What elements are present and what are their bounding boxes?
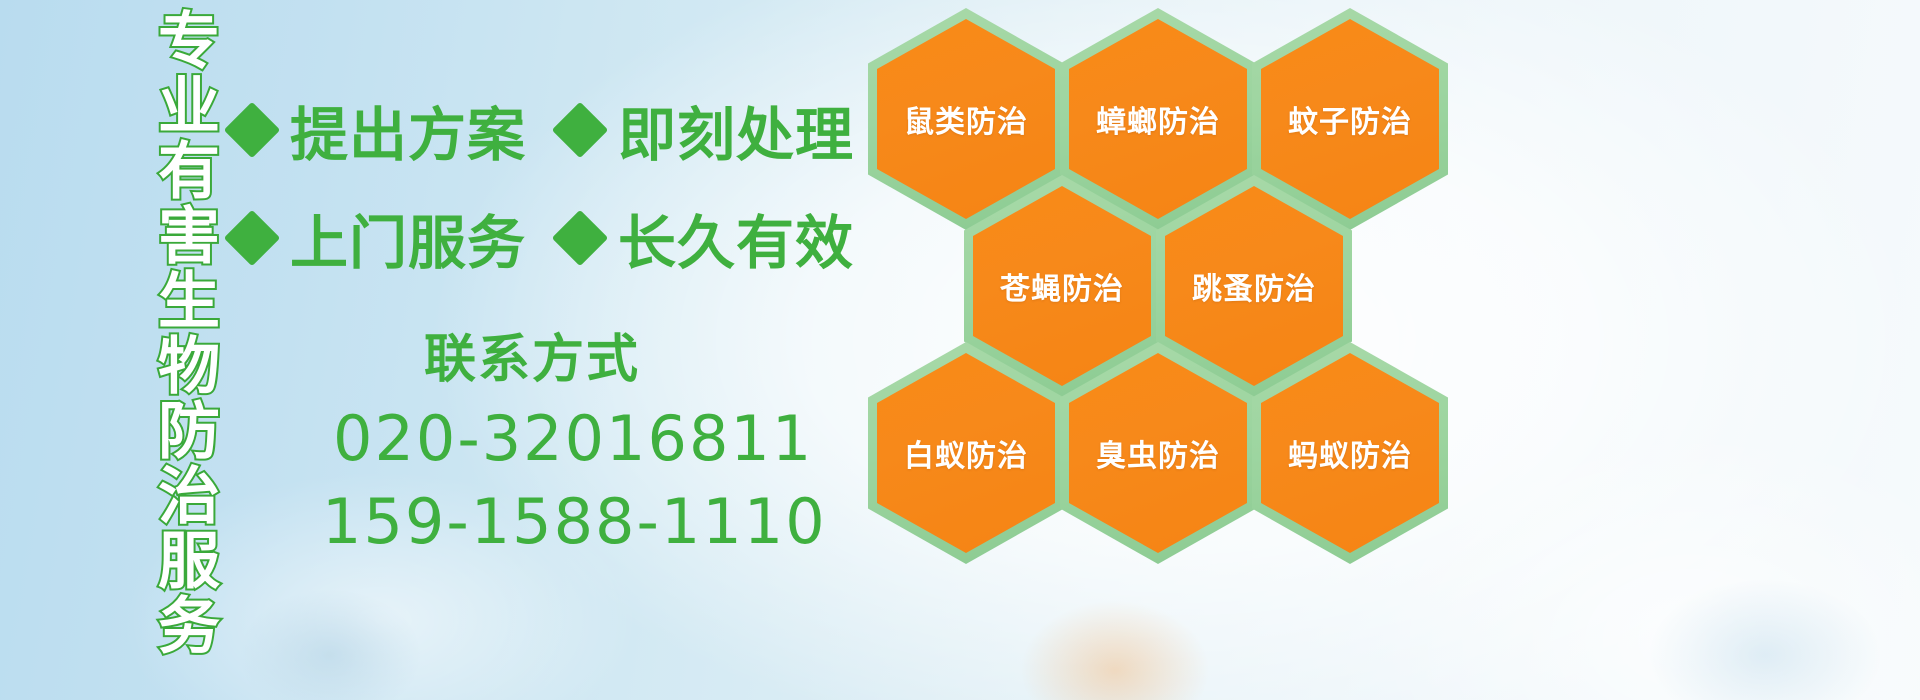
feature-item-onsite: 上门服务 [232, 196, 526, 280]
phone-number-mobile[interactable]: 159-1588-1110 [322, 485, 827, 558]
diamond-icon [552, 210, 609, 267]
service-label: 鼠类防治 [904, 97, 1028, 141]
service-label: 蟑螂防治 [1096, 97, 1220, 141]
service-label: 跳蚤防治 [1192, 264, 1316, 308]
background-blur-spot-left [240, 590, 420, 700]
hexagon-fill: 跳蚤防治 [1165, 186, 1343, 386]
diamond-icon [224, 210, 281, 267]
phone-number-landline[interactable]: 020-32016811 [333, 402, 813, 475]
hexagon-fill: 蟑螂防治 [1069, 19, 1247, 219]
feature-label: 提出方案 [290, 88, 526, 172]
service-label: 蚂蚁防治 [1288, 431, 1412, 475]
feature-item-immediate: 即刻处理 [560, 88, 854, 172]
feature-item-proposal: 提出方案 [232, 88, 526, 172]
feature-label: 即刻处理 [618, 88, 854, 172]
service-label: 白蚁防治 [904, 431, 1028, 475]
hexagon-fill: 蚂蚁防治 [1261, 353, 1439, 553]
diamond-icon [224, 102, 281, 159]
vertical-headline: 专业有害生物防治服务 [108, 8, 216, 680]
service-hexagon-cluster: 鼠类防治 蟑螂防治 蚊子防治 苍蝇防治 跳蚤防治 白蚁防治 [862, 0, 1482, 700]
promo-banner: 专业有害生物防治服务 提出方案 即刻处理 上门服务 长久有效 联系方式 020-… [0, 0, 1920, 700]
feature-label: 长久有效 [618, 196, 854, 280]
service-label: 臭虫防治 [1096, 431, 1220, 475]
feature-row-1: 提出方案 即刻处理 [232, 88, 854, 172]
service-label: 苍蝇防治 [1000, 264, 1124, 308]
hexagon-fill: 白蚁防治 [877, 353, 1055, 553]
service-label: 蚊子防治 [1288, 97, 1412, 141]
feature-row-2: 上门服务 长久有效 [232, 196, 854, 280]
hexagon-fill: 臭虫防治 [1069, 353, 1247, 553]
background-blur-spot-right [1650, 580, 1880, 700]
diamond-icon [552, 102, 609, 159]
hexagon-fill: 苍蝇防治 [973, 186, 1151, 386]
hexagon-fill: 鼠类防治 [877, 19, 1055, 219]
contact-heading: 联系方式 [424, 317, 640, 392]
hexagon-fill: 蚊子防治 [1261, 19, 1439, 219]
feature-label: 上门服务 [290, 196, 526, 280]
feature-item-longterm: 长久有效 [560, 196, 854, 280]
